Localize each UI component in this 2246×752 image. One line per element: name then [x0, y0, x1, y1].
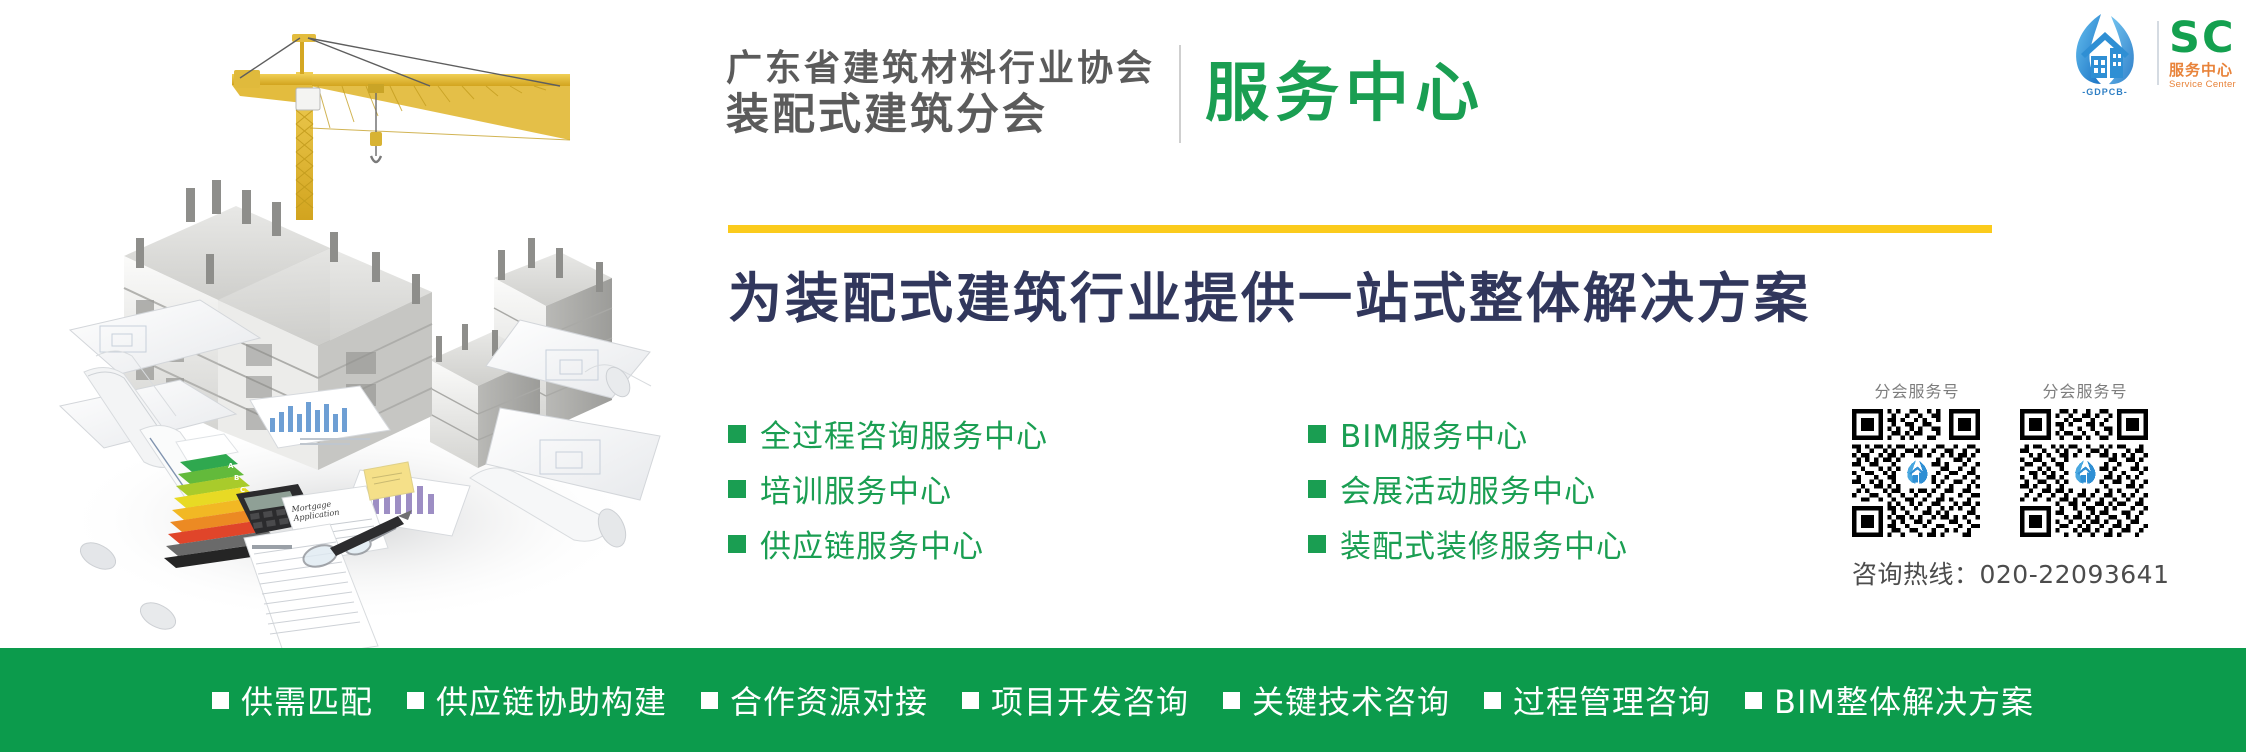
square-bullet-icon: [1484, 692, 1501, 709]
yellow-divider: [728, 225, 1992, 233]
qr-code-image[interactable]: [2020, 409, 2148, 537]
main-slogan: 为装配式建筑行业提供一站式整体解决方案: [728, 254, 1811, 333]
footer-item[interactable]: 合作资源对接: [701, 677, 928, 723]
headline-block: 广东省建筑材料行业协会 装配式建筑分会 服务中心: [726, 38, 1485, 150]
square-bullet-icon: [728, 480, 746, 498]
service-item-label: BIM服务中心: [1340, 411, 1528, 456]
footer-item-label: 项目开发咨询: [991, 677, 1189, 723]
footer-item[interactable]: 项目开发咨询: [962, 677, 1189, 723]
footer-item-label: 过程管理咨询: [1513, 677, 1711, 723]
qr-caption: 分会服务号: [1852, 378, 1982, 402]
square-bullet-icon: [728, 425, 746, 443]
service-item[interactable]: 培训服务中心: [728, 466, 1308, 511]
brand-logo: -GDPCB- SC 服务中心 Service Center: [2063, 8, 2236, 98]
square-bullet-icon: [701, 692, 718, 709]
footer-item-label: 供应链协助构建: [436, 677, 667, 723]
footer-item[interactable]: 供需匹配: [212, 677, 373, 723]
logo-initials: SC: [2169, 17, 2236, 60]
footer-item[interactable]: 供应链协助构建: [407, 677, 667, 723]
service-item-label: 全过程咨询服务中心: [760, 411, 1048, 456]
qr-caption: 分会服务号: [2020, 378, 2150, 402]
footer-item-label: BIM整体解决方案: [1774, 677, 2034, 723]
square-bullet-icon: [728, 535, 746, 553]
service-item-label: 会展活动服务中心: [1340, 466, 1596, 511]
logo-divider: [2157, 21, 2159, 85]
service-item[interactable]: 会展活动服务中心: [1308, 466, 1888, 511]
logo-en-label: Service Center: [2169, 80, 2236, 90]
footer-item[interactable]: 关键技术咨询: [1223, 677, 1450, 723]
service-item[interactable]: 装配式装修服务中心: [1308, 521, 1888, 566]
service-list: 全过程咨询服务中心 BIM服务中心 培训服务中心 会展活动服务中心 供应链服务中…: [728, 406, 1888, 571]
gdpcb-logo-icon: -GDPCB-: [2063, 10, 2147, 96]
service-item[interactable]: 全过程咨询服务中心: [728, 411, 1308, 456]
square-bullet-icon: [962, 692, 979, 709]
square-bullet-icon: [1308, 535, 1326, 553]
qr-item[interactable]: 分会服务号: [2020, 378, 2150, 537]
footer-item-label: 供需匹配: [241, 677, 373, 723]
logo-mark-caption: -GDPCB-: [2063, 87, 2147, 97]
association-line2: 装配式建筑分会: [726, 91, 1155, 139]
qr-code-image[interactable]: [1852, 409, 1980, 537]
square-bullet-icon: [1223, 692, 1240, 709]
headline-divider: [1179, 45, 1181, 143]
square-bullet-icon: [212, 692, 229, 709]
logo-cn-label: 服务中心: [2169, 63, 2233, 78]
footer-item[interactable]: 过程管理咨询: [1484, 677, 1711, 723]
footer-item-label: 关键技术咨询: [1252, 677, 1450, 723]
hotline-text: 咨询热线：020-22093641: [1852, 555, 2232, 591]
service-center-title: 服务中心: [1205, 62, 1485, 126]
square-bullet-icon: [1308, 425, 1326, 443]
square-bullet-icon: [407, 692, 424, 709]
service-item-label: 装配式装修服务中心: [1340, 521, 1628, 566]
service-item-label: 供应链服务中心: [760, 521, 984, 566]
service-item[interactable]: BIM服务中心: [1308, 411, 1888, 456]
svg-text:A: A: [228, 462, 234, 470]
association-name: 广东省建筑材料行业协会 装配式建筑分会: [726, 49, 1155, 139]
qr-section: 分会服务号: [1852, 378, 2232, 591]
service-item[interactable]: 供应链服务中心: [728, 521, 1308, 566]
square-bullet-icon: [1308, 480, 1326, 498]
svg-text:B: B: [234, 474, 239, 482]
construction-hero-image: ABC DEF GHI: [0, 0, 700, 650]
association-line1: 广东省建筑材料行业协会: [726, 49, 1155, 89]
footer-item[interactable]: BIM整体解决方案: [1745, 677, 2034, 723]
service-item-label: 培训服务中心: [760, 466, 952, 511]
footer-item-label: 合作资源对接: [730, 677, 928, 723]
qr-item[interactable]: 分会服务号: [1852, 378, 1982, 537]
banner-root: ABC DEF GHI: [0, 0, 2246, 752]
footer-bar: 供需匹配 供应链协助构建 合作资源对接 项目开发咨询 关键技术咨询 过程管理咨询: [0, 648, 2246, 752]
square-bullet-icon: [1745, 692, 1762, 709]
